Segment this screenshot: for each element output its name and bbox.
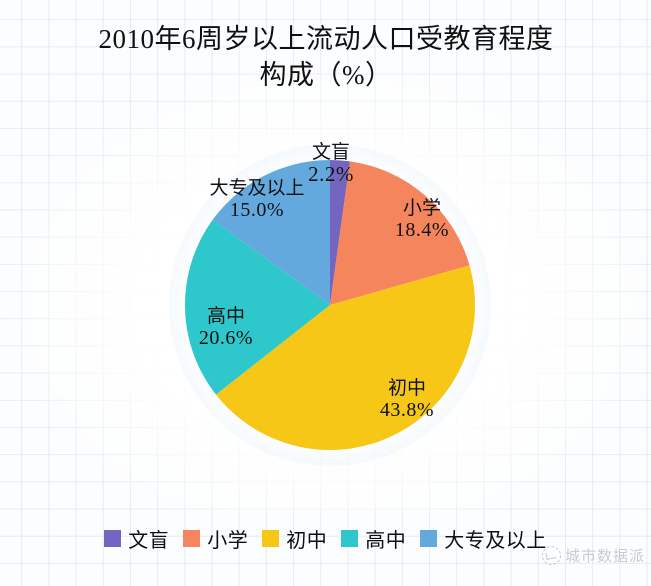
legend-item[interactable]: 小学 — [183, 524, 248, 553]
pie-slices — [185, 160, 475, 450]
legend-swatch — [183, 530, 200, 547]
legend-swatch — [262, 530, 279, 547]
chart-legend: 文盲小学初中高中大专及以上 — [0, 524, 651, 553]
legend-item[interactable]: 文盲 — [104, 524, 169, 553]
chart-title: 2010年6周岁以上流动人口受教育程度 构成（%） — [70, 22, 582, 93]
legend-label: 小学 — [207, 524, 248, 553]
legend-item[interactable]: 高中 — [341, 524, 406, 553]
pie-chart — [185, 160, 475, 450]
legend-swatch — [104, 530, 121, 547]
chart-canvas: 2010年6周岁以上流动人口受教育程度 构成（%） 文盲 2.2% 小学 18.… — [0, 0, 651, 586]
legend-label: 大专及以上 — [444, 524, 547, 553]
legend-label: 初中 — [286, 524, 327, 553]
legend-swatch — [341, 530, 358, 547]
legend-swatch — [420, 530, 437, 547]
legend-label: 高中 — [365, 524, 406, 553]
legend-item[interactable]: 初中 — [262, 524, 327, 553]
legend-label: 文盲 — [128, 524, 169, 553]
legend-item[interactable]: 大专及以上 — [420, 524, 547, 553]
